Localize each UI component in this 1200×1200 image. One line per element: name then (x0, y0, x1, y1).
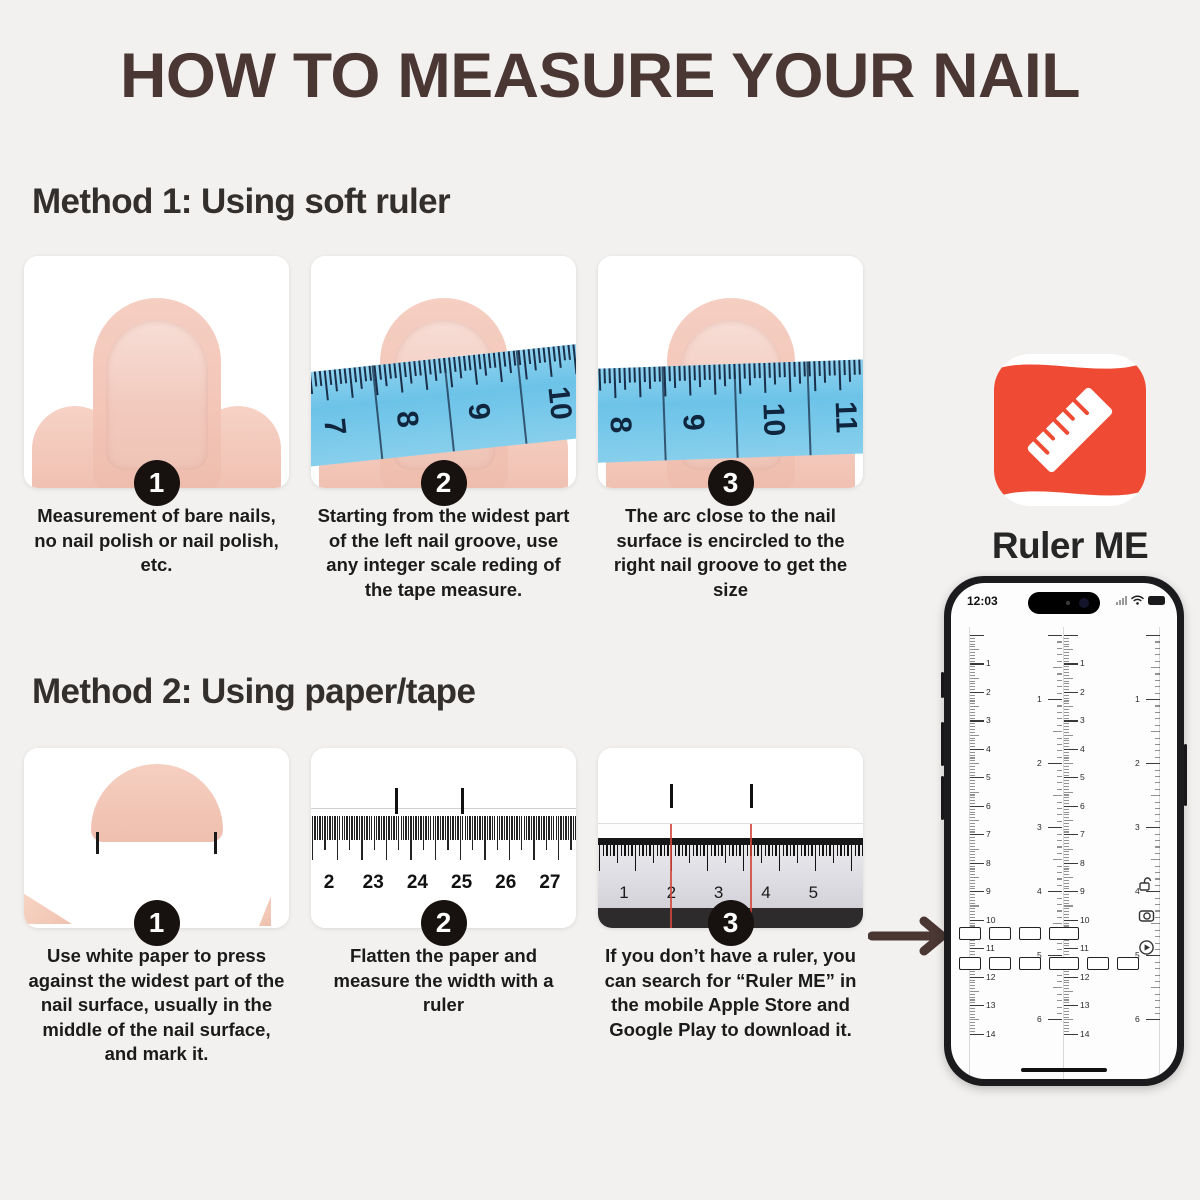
ruler-tick (970, 943, 975, 944)
app-label: Ruler ME (900, 525, 1200, 567)
ruler-tick (1064, 894, 1069, 895)
ruler-tick (1155, 1013, 1160, 1014)
ruler-tick (1064, 871, 1069, 872)
ruler-tick (1064, 703, 1069, 704)
ruler-tick (970, 863, 984, 864)
ruler-measurement-screen[interactable]: 1234567891011121314123456123456789101112… (951, 627, 1177, 1079)
camera-icon (1138, 907, 1155, 924)
phone-volume-down-button[interactable] (941, 776, 944, 820)
ruler-scale-number: 12 (1080, 972, 1089, 982)
ruler-tick (970, 829, 975, 830)
ruler-tick (970, 732, 975, 733)
ruler-tick (970, 644, 975, 645)
ruler-tick (1155, 981, 1160, 982)
ruler-tick (1064, 681, 1069, 682)
ruler-tick (970, 1011, 975, 1012)
ruler-tick (1064, 755, 1069, 756)
ruler-tick (1064, 786, 1069, 787)
ruler-tick (1146, 699, 1160, 700)
ruler-scale-number: 6 (986, 801, 991, 811)
ruler-tick (1064, 803, 1069, 804)
ruler-tick (970, 997, 975, 998)
ruler-tick (1057, 1000, 1062, 1001)
ruler-tick (1064, 729, 1069, 730)
ruler-tick (1064, 749, 1078, 750)
play-icon (1138, 939, 1155, 956)
ruler-tick (970, 738, 975, 739)
ruler-number: 27 (539, 872, 560, 894)
ruler-tick (970, 951, 975, 952)
ruler-tick (970, 718, 975, 719)
ruler-tick (970, 720, 984, 721)
ruler-tick (1057, 705, 1062, 706)
ruler-tick (970, 698, 975, 699)
pen-mark-left (670, 784, 673, 808)
ruler-tick (1064, 683, 1069, 684)
phone-mute-button[interactable] (941, 672, 944, 698)
chip (1019, 957, 1041, 970)
ruler-tick (970, 729, 975, 730)
ruler-tick (970, 786, 975, 787)
ruler-tick (1064, 644, 1069, 645)
ruler-tick (1155, 782, 1160, 783)
ruler-tick (1057, 744, 1062, 745)
ruler-tick (1064, 686, 1069, 687)
ruler-tick (1155, 814, 1160, 815)
ruler-tick (970, 726, 975, 727)
tape-number: 11 (827, 401, 862, 434)
ruler-tick (1048, 763, 1062, 764)
ruler-tick (1064, 675, 1069, 676)
ruler-tick (1057, 994, 1062, 995)
ruler-tick (1064, 661, 1069, 662)
ruler-tick (1064, 641, 1069, 642)
ruler-scale-number: 6 (1037, 1014, 1042, 1024)
ruler-tick (1057, 834, 1062, 835)
ruler-tick (1057, 878, 1062, 879)
ruler-tick (1155, 917, 1160, 918)
ruler-tick (1057, 776, 1062, 777)
ruler-tick (1155, 693, 1160, 694)
ruler-tick (970, 749, 984, 750)
ruler-tick (970, 1008, 975, 1009)
tape-numbers: 891011 (598, 393, 863, 463)
step-card-m2-3: 12345 3 If you don’t have a ruler, you c… (598, 748, 863, 928)
ruler-tick (1057, 898, 1062, 899)
ruler-tick (970, 1005, 984, 1006)
ruler-tick (970, 900, 975, 901)
ruler-tick (970, 678, 979, 679)
ruler-tick (1057, 680, 1062, 681)
chip (989, 927, 1011, 940)
ruler-tick (970, 709, 975, 710)
method-2-heading: Method 2: Using paper/tape (32, 672, 475, 712)
ruler-tick (1155, 641, 1160, 642)
ruler-tick (970, 971, 975, 972)
ruler-tick (1064, 849, 1073, 850)
ruler-tick (970, 988, 975, 989)
ruler-scale-number: 1 (1135, 694, 1140, 704)
ruler-tick (1155, 705, 1160, 706)
ruler-tick (1064, 646, 1069, 647)
ruler-scale-number: 1 (986, 658, 991, 668)
ruler-tick (970, 888, 975, 889)
ruler-tick (970, 917, 975, 918)
step-badge: 3 (708, 460, 754, 506)
ruler-tick (1155, 750, 1160, 751)
step-caption: Measurement of bare nails, no nail polis… (24, 504, 289, 578)
ruler-tick (1057, 661, 1062, 662)
ruler-tick (1064, 920, 1078, 921)
ruler-tick (970, 903, 975, 904)
ruler-tick (1064, 863, 1078, 864)
ruler-tick (1064, 831, 1069, 832)
ruler-tick (1057, 693, 1062, 694)
ruler-tick (970, 826, 975, 827)
ruler-tick (1053, 731, 1062, 732)
ruler-tick (1064, 980, 1069, 981)
ruler-tick (1057, 673, 1062, 674)
ruler-tick (970, 834, 984, 835)
pen-mark-right (214, 832, 217, 854)
ruler-tick (970, 871, 975, 872)
ruler-tick (1064, 851, 1069, 852)
ruler-scale-number: 8 (1080, 858, 1085, 868)
chip (1087, 957, 1109, 970)
ruler-scale-number: 4 (986, 744, 991, 754)
ruler-tick (1064, 689, 1069, 690)
ruler-tick (1064, 829, 1069, 830)
ruler-number: 24 (407, 872, 428, 894)
ruler-tick (970, 783, 975, 784)
ruler-tick (970, 740, 975, 741)
ruler-tick (1064, 991, 1073, 992)
ruler-tick (1057, 770, 1062, 771)
ruler-scale-number: 10 (1080, 915, 1089, 925)
ruler-tick (1057, 949, 1062, 950)
ruler-tick (1064, 678, 1073, 679)
ruler-tick (1155, 904, 1160, 905)
ruler-tick (1064, 971, 1069, 972)
chip (959, 957, 981, 970)
ruler-tick (1064, 994, 1069, 995)
chip (1117, 957, 1139, 970)
screen-tool-icons[interactable] (1138, 875, 1155, 956)
ruler-tick (1064, 999, 1069, 1000)
ruler-tick (1064, 740, 1069, 741)
ruler-tick (970, 806, 984, 807)
ruler-tick (970, 982, 975, 983)
ruler-tick (1155, 821, 1160, 822)
ruler-tick (1057, 917, 1062, 918)
ruler-tick (1064, 712, 1069, 713)
ruler-tick (1064, 846, 1069, 847)
ruler-tick (1064, 672, 1069, 673)
ruler-tick (970, 635, 984, 636)
step-caption: The arc close to the nail surface is enc… (598, 504, 863, 602)
ruler-tick (1155, 949, 1160, 950)
phone-mockup: 12:03 1234567891011121314123456123456789… (944, 576, 1184, 1086)
ruler-tick (1064, 655, 1069, 656)
ruler-tick (1155, 808, 1160, 809)
ruler-tick (1064, 840, 1069, 841)
ruler-tick (1064, 766, 1069, 767)
ruler-tick (1064, 1025, 1069, 1026)
ruler-scale-number: 4 (1037, 886, 1042, 896)
ruler-tick (970, 1034, 984, 1035)
ruler-tick (970, 857, 975, 858)
ruler-tick (1057, 1013, 1062, 1014)
ruler-tick (1155, 776, 1160, 777)
ruler-tick (970, 843, 975, 844)
phone-power-button[interactable] (1184, 744, 1187, 806)
ruler-tick (1064, 857, 1069, 858)
bare-thumb-illustration (24, 256, 289, 488)
battery-icon (1148, 596, 1165, 605)
ruler-scale-number: 3 (1037, 822, 1042, 832)
ruler-tick (1064, 860, 1069, 861)
ruler-tick (1064, 874, 1069, 875)
ruler-tick (970, 1019, 979, 1020)
ruler-tick (970, 1028, 975, 1029)
ruler-scale-number: 7 (1080, 829, 1085, 839)
ruler-tick (1064, 706, 1073, 707)
ruler-tick (1064, 974, 1069, 975)
ruler-tick (1064, 806, 1078, 807)
ruler-tick (1064, 1022, 1069, 1023)
ruler-tick (1064, 1008, 1069, 1009)
status-right-cluster (1116, 595, 1165, 605)
step-card-m1-2: 78910 2 Starting from the widest part of… (311, 256, 576, 488)
ruler-tick (1064, 695, 1069, 696)
ruler-tick (970, 868, 975, 869)
ruler-tick (970, 772, 975, 773)
ruler-tick (1155, 853, 1160, 854)
ruler-tick (1155, 943, 1160, 944)
home-indicator[interactable] (1021, 1068, 1107, 1072)
ruler-tick (1057, 821, 1062, 822)
ruler-tick (1057, 808, 1062, 809)
ruler-tick (1057, 975, 1062, 976)
ruler-tick (1155, 770, 1160, 771)
ruler-tick (1155, 718, 1160, 719)
method-1-heading: Method 1: Using soft ruler (32, 182, 450, 222)
ruler-tick (1064, 1031, 1069, 1032)
ruler-tick (1057, 750, 1062, 751)
ruler-scale-number: 7 (986, 829, 991, 839)
ruler-tick (1064, 854, 1069, 855)
ruler-tick (1064, 888, 1069, 889)
thumb-wrapped-tape-illustration: 891011 (598, 256, 863, 488)
ruler-tick (1155, 866, 1160, 867)
ruler-tick (1064, 649, 1073, 650)
ruler-tick (1057, 872, 1062, 873)
ruler-tick (970, 669, 975, 670)
ruler-tick (1064, 903, 1069, 904)
ruler-tick (1064, 752, 1069, 753)
ruler-tick (1057, 866, 1062, 867)
ruler-scale-number: 13 (1080, 1000, 1089, 1010)
ruler-tick (1064, 797, 1069, 798)
ruler-scale-number: 6 (1135, 1014, 1140, 1024)
ruler-tick (970, 820, 979, 821)
ruler-number: 3 (714, 883, 723, 903)
ruler-tick (1057, 1007, 1062, 1008)
ruler-tick (970, 874, 975, 875)
step-card-m1-3: 891011 3 The arc close to the nail surfa… (598, 256, 863, 488)
tape-number: 9 (461, 402, 497, 422)
ruler-tick (970, 763, 979, 764)
finger-corner-right (259, 896, 271, 926)
ruler-tick (970, 743, 975, 744)
ruler-number: 1 (619, 883, 628, 903)
ruler-tick (970, 715, 975, 716)
ruler-tick (1155, 725, 1160, 726)
ruler-tick (1064, 763, 1073, 764)
ruler-app-icon[interactable] (994, 354, 1146, 506)
ruler-tick (970, 923, 975, 924)
ruler-scale-number: 1 (1080, 658, 1085, 668)
ruler-tick (970, 920, 984, 921)
phone-volume-up-button[interactable] (941, 722, 944, 766)
ruler-tick (1064, 954, 1069, 955)
ruler-number: 23 (363, 872, 384, 894)
ruler-tick (1151, 859, 1160, 860)
ruler-tick (1053, 923, 1062, 924)
ruler-tick (1064, 772, 1069, 773)
ruler-tick (970, 641, 975, 642)
ruler-tick (1146, 827, 1160, 828)
ruler-tick (1064, 746, 1069, 747)
ruler-scale-number: 2 (1080, 687, 1085, 697)
ruler-tick (1064, 700, 1069, 701)
tape-number: 10 (756, 402, 791, 437)
ruler-scale-number: 2 (1135, 758, 1140, 768)
ruler-tick (970, 1014, 975, 1015)
ruler-tick (970, 683, 975, 684)
ruler-tick (1064, 726, 1069, 727)
ruler-scale-number: 5 (986, 772, 991, 782)
ruler-tick (1064, 914, 1069, 915)
ruler-tick (1155, 840, 1160, 841)
ruler-scale-number: 2 (986, 687, 991, 697)
front-camera-icon (1079, 598, 1089, 608)
measurement-chip-row-2 (959, 957, 1169, 970)
ruler-scale-number: 3 (1080, 715, 1085, 725)
ruler-tick (970, 746, 975, 747)
ruler-tick (970, 1002, 975, 1003)
ruler-tick (1155, 648, 1160, 649)
ruler-tick (970, 666, 975, 667)
ruler-scale-number: 14 (986, 1029, 995, 1039)
ruler-tick (1155, 673, 1160, 674)
ruler-tick (1064, 709, 1069, 710)
ruler-tick (1064, 732, 1069, 733)
ruler-tick (970, 675, 975, 676)
ruler-tick (970, 792, 979, 793)
step-caption: Starting from the widest part of the lef… (311, 504, 576, 602)
ruler-tick (970, 809, 975, 810)
step-caption: Flatten the paper and measure the width … (311, 944, 576, 1018)
ruler-tick (1064, 911, 1069, 912)
ruler-tick (1146, 763, 1160, 764)
ruler-tick (970, 638, 975, 639)
ruler-scale-number: 9 (986, 886, 991, 896)
ruler-tick (970, 803, 975, 804)
step-image-m1-3: 891011 (598, 256, 863, 488)
ruler-tick (1064, 883, 1069, 884)
ruler-tick (970, 908, 975, 909)
ruler-tick (970, 752, 975, 753)
ruler-tick (1064, 809, 1069, 810)
ruler-tick (970, 777, 984, 778)
ruler-tick (1064, 635, 1078, 636)
ruler-tick (970, 735, 979, 736)
wifi-icon (1131, 595, 1144, 605)
ruler-tick (1155, 878, 1160, 879)
ruler-tick (1064, 792, 1073, 793)
ruler-number: 5 (809, 883, 818, 903)
ruler-tick (1048, 827, 1062, 828)
ruler-tick (1064, 1002, 1069, 1003)
nail-print (91, 764, 223, 842)
tape-number: 7 (316, 417, 352, 437)
ruler-tick (970, 1031, 975, 1032)
ruler-tick (1064, 877, 1073, 878)
ruler-tick (1064, 812, 1069, 813)
ruler-tick (970, 812, 975, 813)
page-title: HOW TO MEASURE YOUR NAIL (0, 40, 1200, 112)
ruler-tick (970, 914, 975, 915)
ruler-tick (1057, 789, 1062, 790)
ruler-tick (1053, 667, 1062, 668)
ruler-scale-number: 6 (1080, 801, 1085, 811)
ruler-tick (1064, 1011, 1069, 1012)
pen-mark-left (96, 832, 99, 854)
ruler-tick (1064, 868, 1069, 869)
ruler-tick (1064, 783, 1069, 784)
ruler-tick (970, 837, 975, 838)
ruler-tick (970, 883, 975, 884)
ruler-tick (970, 655, 975, 656)
ruler-tick (1064, 997, 1069, 998)
ruler-tick (1064, 923, 1069, 924)
ruler-tick (1057, 757, 1062, 758)
ruler-tick (970, 954, 975, 955)
ruler-scale-number: 13 (986, 1000, 995, 1010)
ruler-tick (1064, 666, 1069, 667)
ruler-tick (1064, 775, 1069, 776)
tape-number: 8 (603, 416, 638, 434)
ruler-tick (1057, 718, 1062, 719)
ruler-tick (1155, 898, 1160, 899)
ruler-tick (1064, 738, 1069, 739)
ruler-tick (970, 652, 975, 653)
ruler-tick (1064, 837, 1069, 838)
step-card-m1-1: 1 Measurement of bare nails, no nail pol… (24, 256, 289, 488)
ruler-tick (1057, 885, 1062, 886)
ruler-tick (1155, 846, 1160, 847)
unlock-icon (1138, 875, 1155, 892)
ruler-tick (970, 646, 975, 647)
ruler-scale-number: 5 (1080, 772, 1085, 782)
chip (1049, 927, 1079, 940)
ruler-tick (970, 757, 975, 758)
ruler-tick (1064, 800, 1069, 801)
infographic-page: HOW TO MEASURE YOUR NAIL Method 1: Using… (0, 0, 1200, 1200)
ruler-tick (970, 760, 975, 761)
ruler-tick (1155, 757, 1160, 758)
